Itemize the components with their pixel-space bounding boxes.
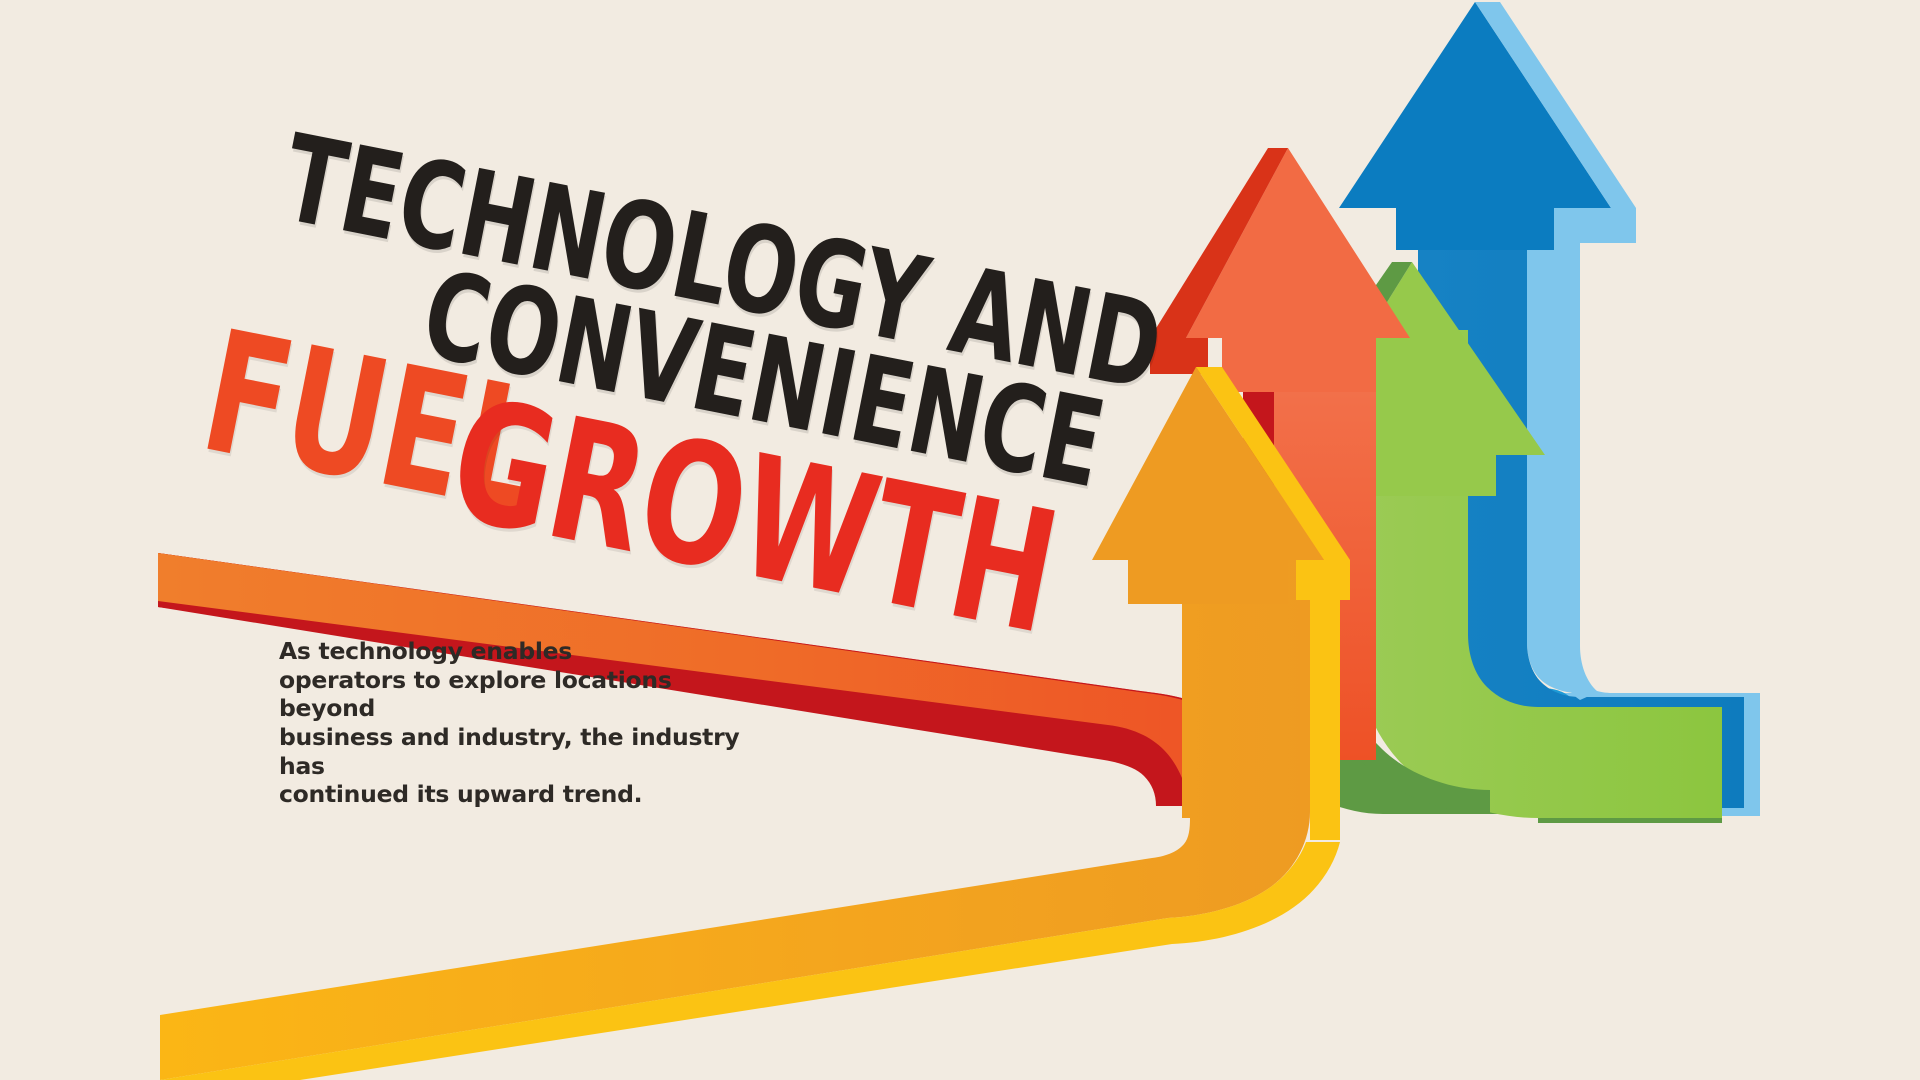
blue-arrow-head-bevel-lower bbox=[1580, 208, 1636, 243]
green-arrow-tail-bevel bbox=[1538, 818, 1722, 823]
blue-arrow-shaft-bevel bbox=[1554, 208, 1598, 700]
orange-arrow-edge bbox=[1310, 560, 1340, 840]
growth-arrows-illustration bbox=[0, 0, 1920, 1080]
poster-canvas: TECHNOLOGY AND CONVENIENCE FUEL GROWTH A… bbox=[0, 0, 1920, 1080]
body-paragraph: As technology enables operators to explo… bbox=[279, 637, 749, 809]
orange-arrow-head-bevel-lower bbox=[1296, 560, 1350, 600]
